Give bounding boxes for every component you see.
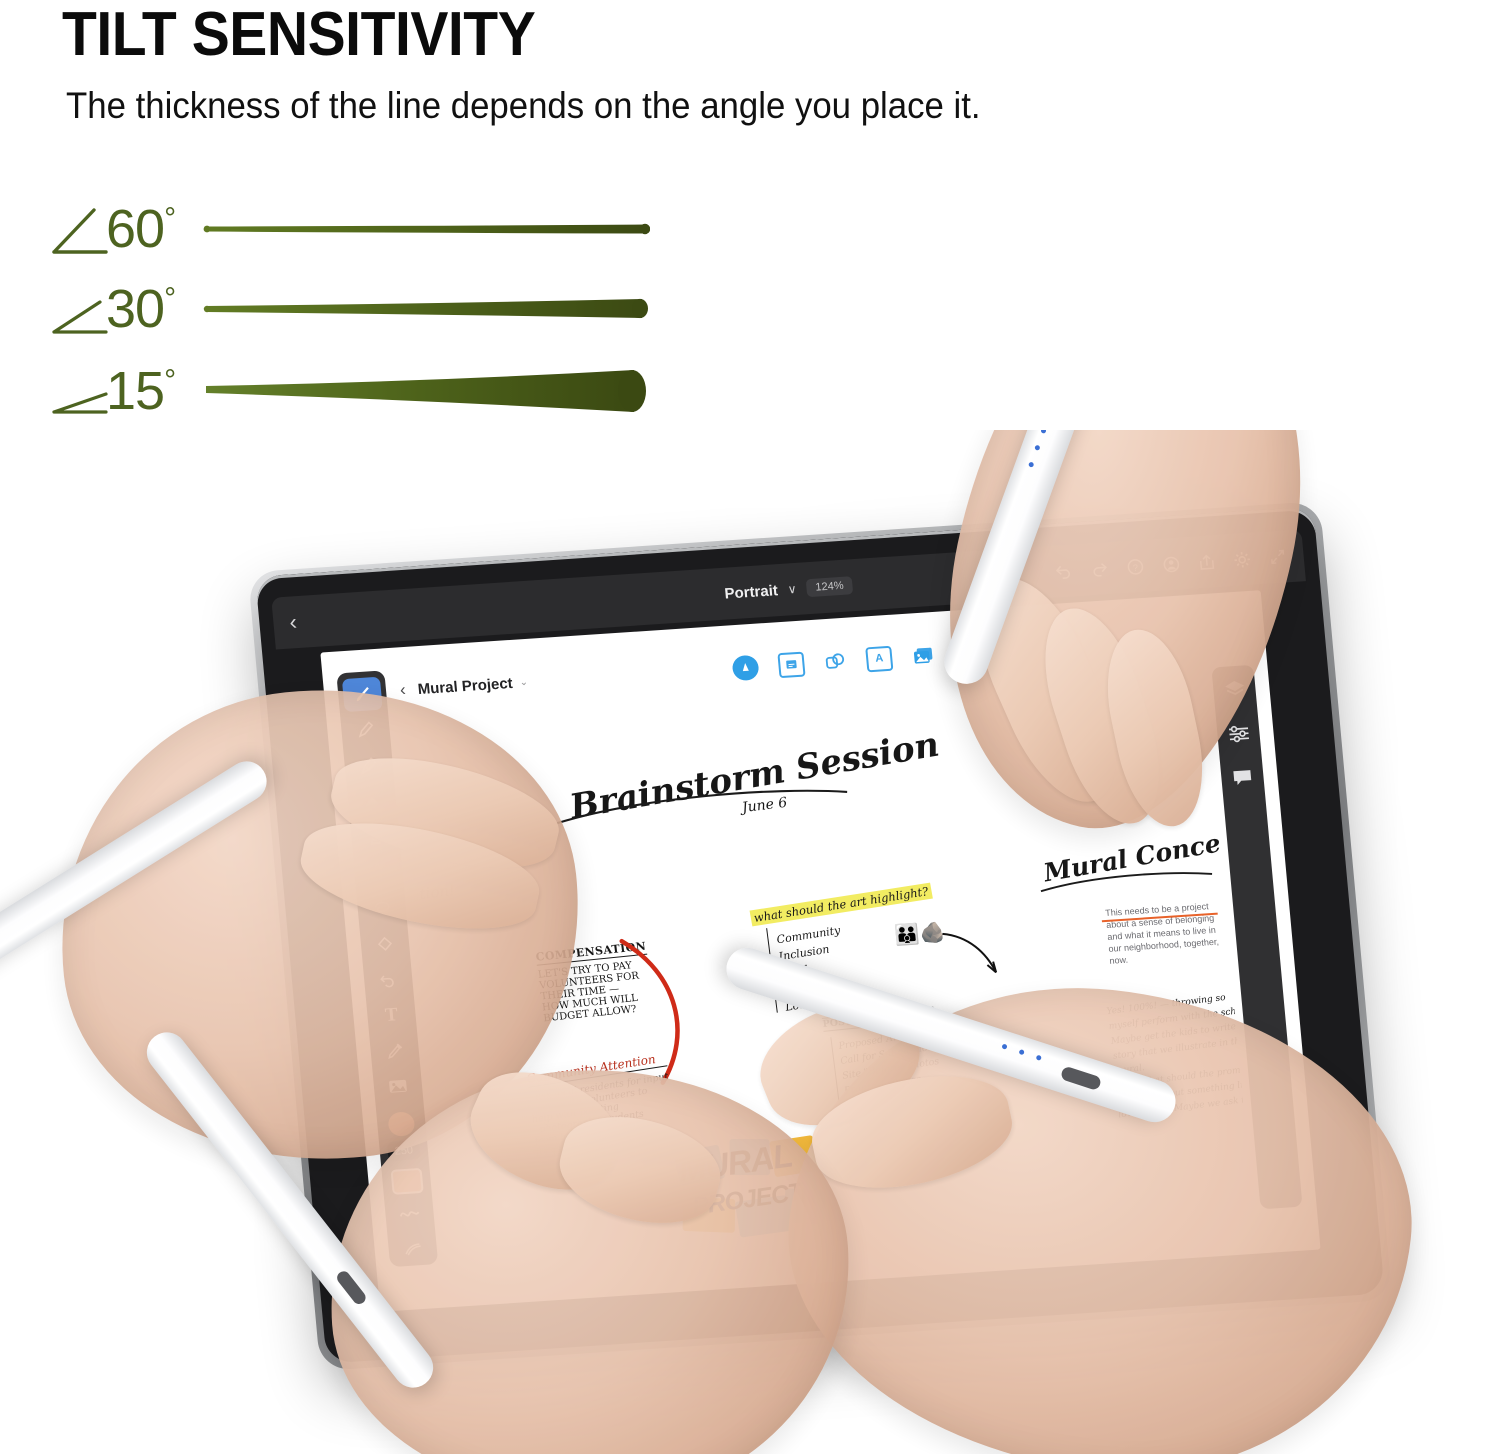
adjustments-icon[interactable] [1227,724,1250,743]
concept-note-text: This needs to be a project about a sense… [1105,899,1228,967]
stylus-button[interactable] [335,1269,369,1307]
angle-symbol-60-icon [50,200,112,274]
angle-row-15: 15° [50,362,650,436]
pen-icon[interactable] [731,654,759,681]
angle-value-30: 30° [106,282,175,336]
stylus-led [1019,1049,1025,1055]
stylus-button[interactable] [1060,1065,1102,1091]
angle-value-60: 60° [106,202,175,256]
concept-note: This needs to be a project about a sense… [1105,899,1228,967]
angle-label-60: 60° [50,200,200,274]
stylus-led [1001,1043,1007,1049]
product-photo-scene: ‹ Portrait ∨ 124% ? [0,430,1500,1454]
document-title[interactable]: Mural Project [417,674,513,697]
stroke-sample-30 [202,280,650,354]
text-box-icon[interactable]: A [865,645,893,672]
angle-label-30: 30° [50,280,200,354]
angle-value-15: 15° [106,364,175,418]
app-back-icon[interactable]: ‹ [399,680,406,700]
zoom-level-badge[interactable]: 124% [806,576,854,597]
angle-label-15: 15° [50,362,200,436]
chevron-down-icon[interactable]: ∨ [787,582,797,597]
arrow-annotation [940,923,1015,987]
shapes-icon[interactable] [823,650,847,672]
stylus-led [1028,461,1034,467]
stylus-led [1040,430,1046,434]
people-emoji-1: 👪 [893,921,920,948]
tilt-angle-diagram: 60° 30° [50,200,650,440]
angle-row-30: 30° [50,280,650,354]
stroke-sample-15 [202,362,650,436]
stroke-sample-60 [202,200,650,274]
stylus-led [1034,445,1040,451]
app-header-icon-group: A [731,642,935,680]
page-title: TILT SENSITIVITY [62,2,535,68]
stylus-led [1036,1055,1042,1061]
orientation-label[interactable]: Portrait [724,582,779,602]
media-icon[interactable] [911,644,935,666]
angle-row-60: 60° [50,200,650,274]
angle-symbol-15-icon [50,362,112,436]
sticky-note-icon[interactable] [777,651,805,678]
angle-symbol-30-icon [50,280,112,354]
page-subtitle: The thickness of the line depends on the… [66,84,981,128]
comment-icon[interactable] [1232,768,1254,787]
document-title-caret-icon[interactable]: ⌄ [519,676,528,688]
os-back-icon[interactable]: ‹ [288,609,298,635]
